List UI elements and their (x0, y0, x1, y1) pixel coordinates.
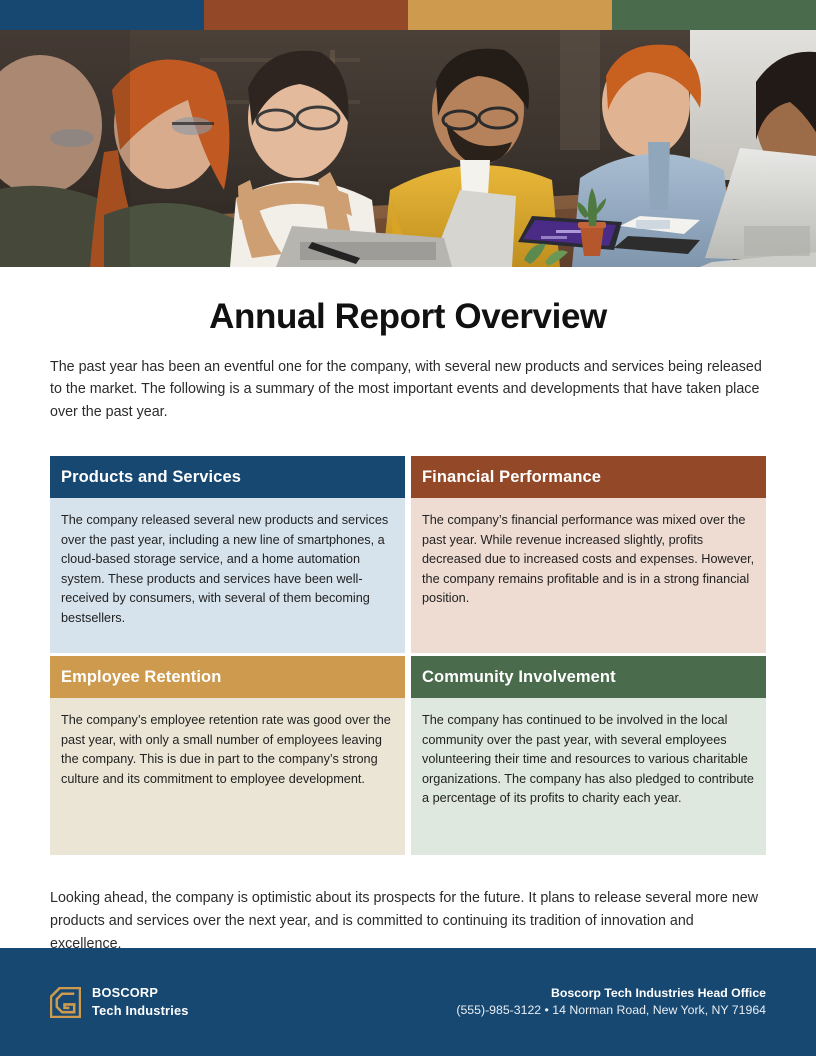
card-header-products-and-services: Products and Services (50, 456, 405, 498)
card-products-and-services: Products and Services The company releas… (50, 456, 405, 653)
footer-brand: BOSCORP Tech Industries (50, 984, 189, 1019)
hero-image (0, 30, 816, 267)
summary-card-grid: Products and Services The company releas… (50, 456, 766, 855)
card-body-community-involvement: The company has continued to be involved… (411, 698, 766, 855)
outro-paragraph: Looking ahead, the company is optimistic… (50, 887, 766, 956)
footer-office-name: Boscorp Tech Industries Head Office (456, 985, 766, 1002)
card-header-community-involvement: Community Involvement (411, 656, 766, 698)
report-page: Annual Report Overview The past year has… (0, 0, 816, 1056)
card-body-products-and-services: The company released several new product… (50, 498, 405, 653)
footer-brand-line1: BOSCORP (92, 984, 189, 1002)
hero-illustration (0, 30, 816, 267)
footer-contact-block: Boscorp Tech Industries Head Office (555… (456, 985, 766, 1020)
top-bar-segment-green (612, 0, 816, 30)
intro-paragraph: The past year has been an eventful one f… (50, 356, 766, 425)
footer-contact-line: (555)-985-3122 • 14 Norman Road, New Yor… (456, 1002, 766, 1019)
top-bar-segment-navy (0, 0, 204, 30)
card-header-employee-retention: Employee Retention (50, 656, 405, 698)
card-body-employee-retention: The company’s employee retention rate wa… (50, 698, 405, 855)
top-bar-segment-gold (408, 0, 612, 30)
page-footer: BOSCORP Tech Industries Boscorp Tech Ind… (0, 948, 816, 1056)
page-title: Annual Report Overview (0, 298, 816, 337)
footer-brand-line2: Tech Industries (92, 1002, 189, 1020)
card-employee-retention: Employee Retention The company’s employe… (50, 656, 405, 855)
boscorp-logo-icon (50, 987, 81, 1018)
top-color-bar (0, 0, 816, 30)
footer-brand-text: BOSCORP Tech Industries (92, 984, 189, 1019)
card-body-financial-performance: The company’s financial performance was … (411, 498, 766, 653)
card-header-financial-performance: Financial Performance (411, 456, 766, 498)
top-bar-segment-rust (204, 0, 408, 30)
card-financial-performance: Financial Performance The company’s fina… (411, 456, 766, 653)
card-community-involvement: Community Involvement The company has co… (411, 656, 766, 855)
